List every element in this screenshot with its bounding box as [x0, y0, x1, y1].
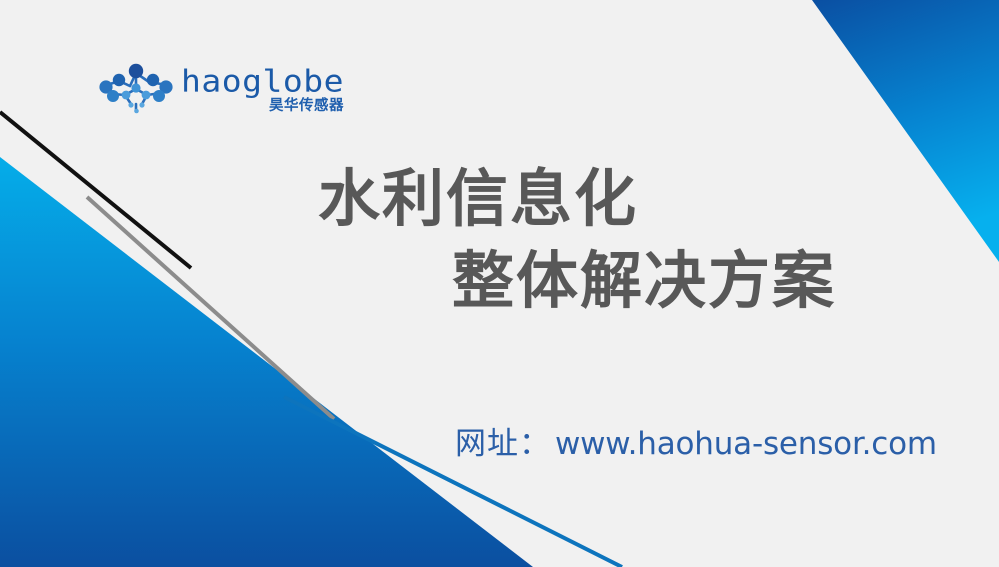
- logo-wordmark: haoglobe: [181, 65, 344, 95]
- haoglobe-network-dots-icon: [97, 60, 175, 116]
- website-line: 网址： www.haohua-sensor.com: [455, 418, 937, 463]
- title-line-2: 整体解决方案: [0, 240, 999, 322]
- logo-text-lockup: haoglobe 昊华传感器: [181, 63, 344, 114]
- title-line-1: 水利信息化: [0, 158, 999, 240]
- title-slide: haoglobe 昊华传感器 水利信息化 整体解决方案 网址： www.haoh…: [0, 0, 999, 567]
- company-logo: haoglobe 昊华传感器: [97, 57, 322, 119]
- logo-chinese-subtext: 昊华传感器: [269, 99, 344, 114]
- website-label: 网址：: [455, 418, 551, 463]
- website-url[interactable]: www.haohua-sensor.com: [555, 426, 937, 462]
- slide-title: 水利信息化 整体解决方案: [0, 158, 999, 322]
